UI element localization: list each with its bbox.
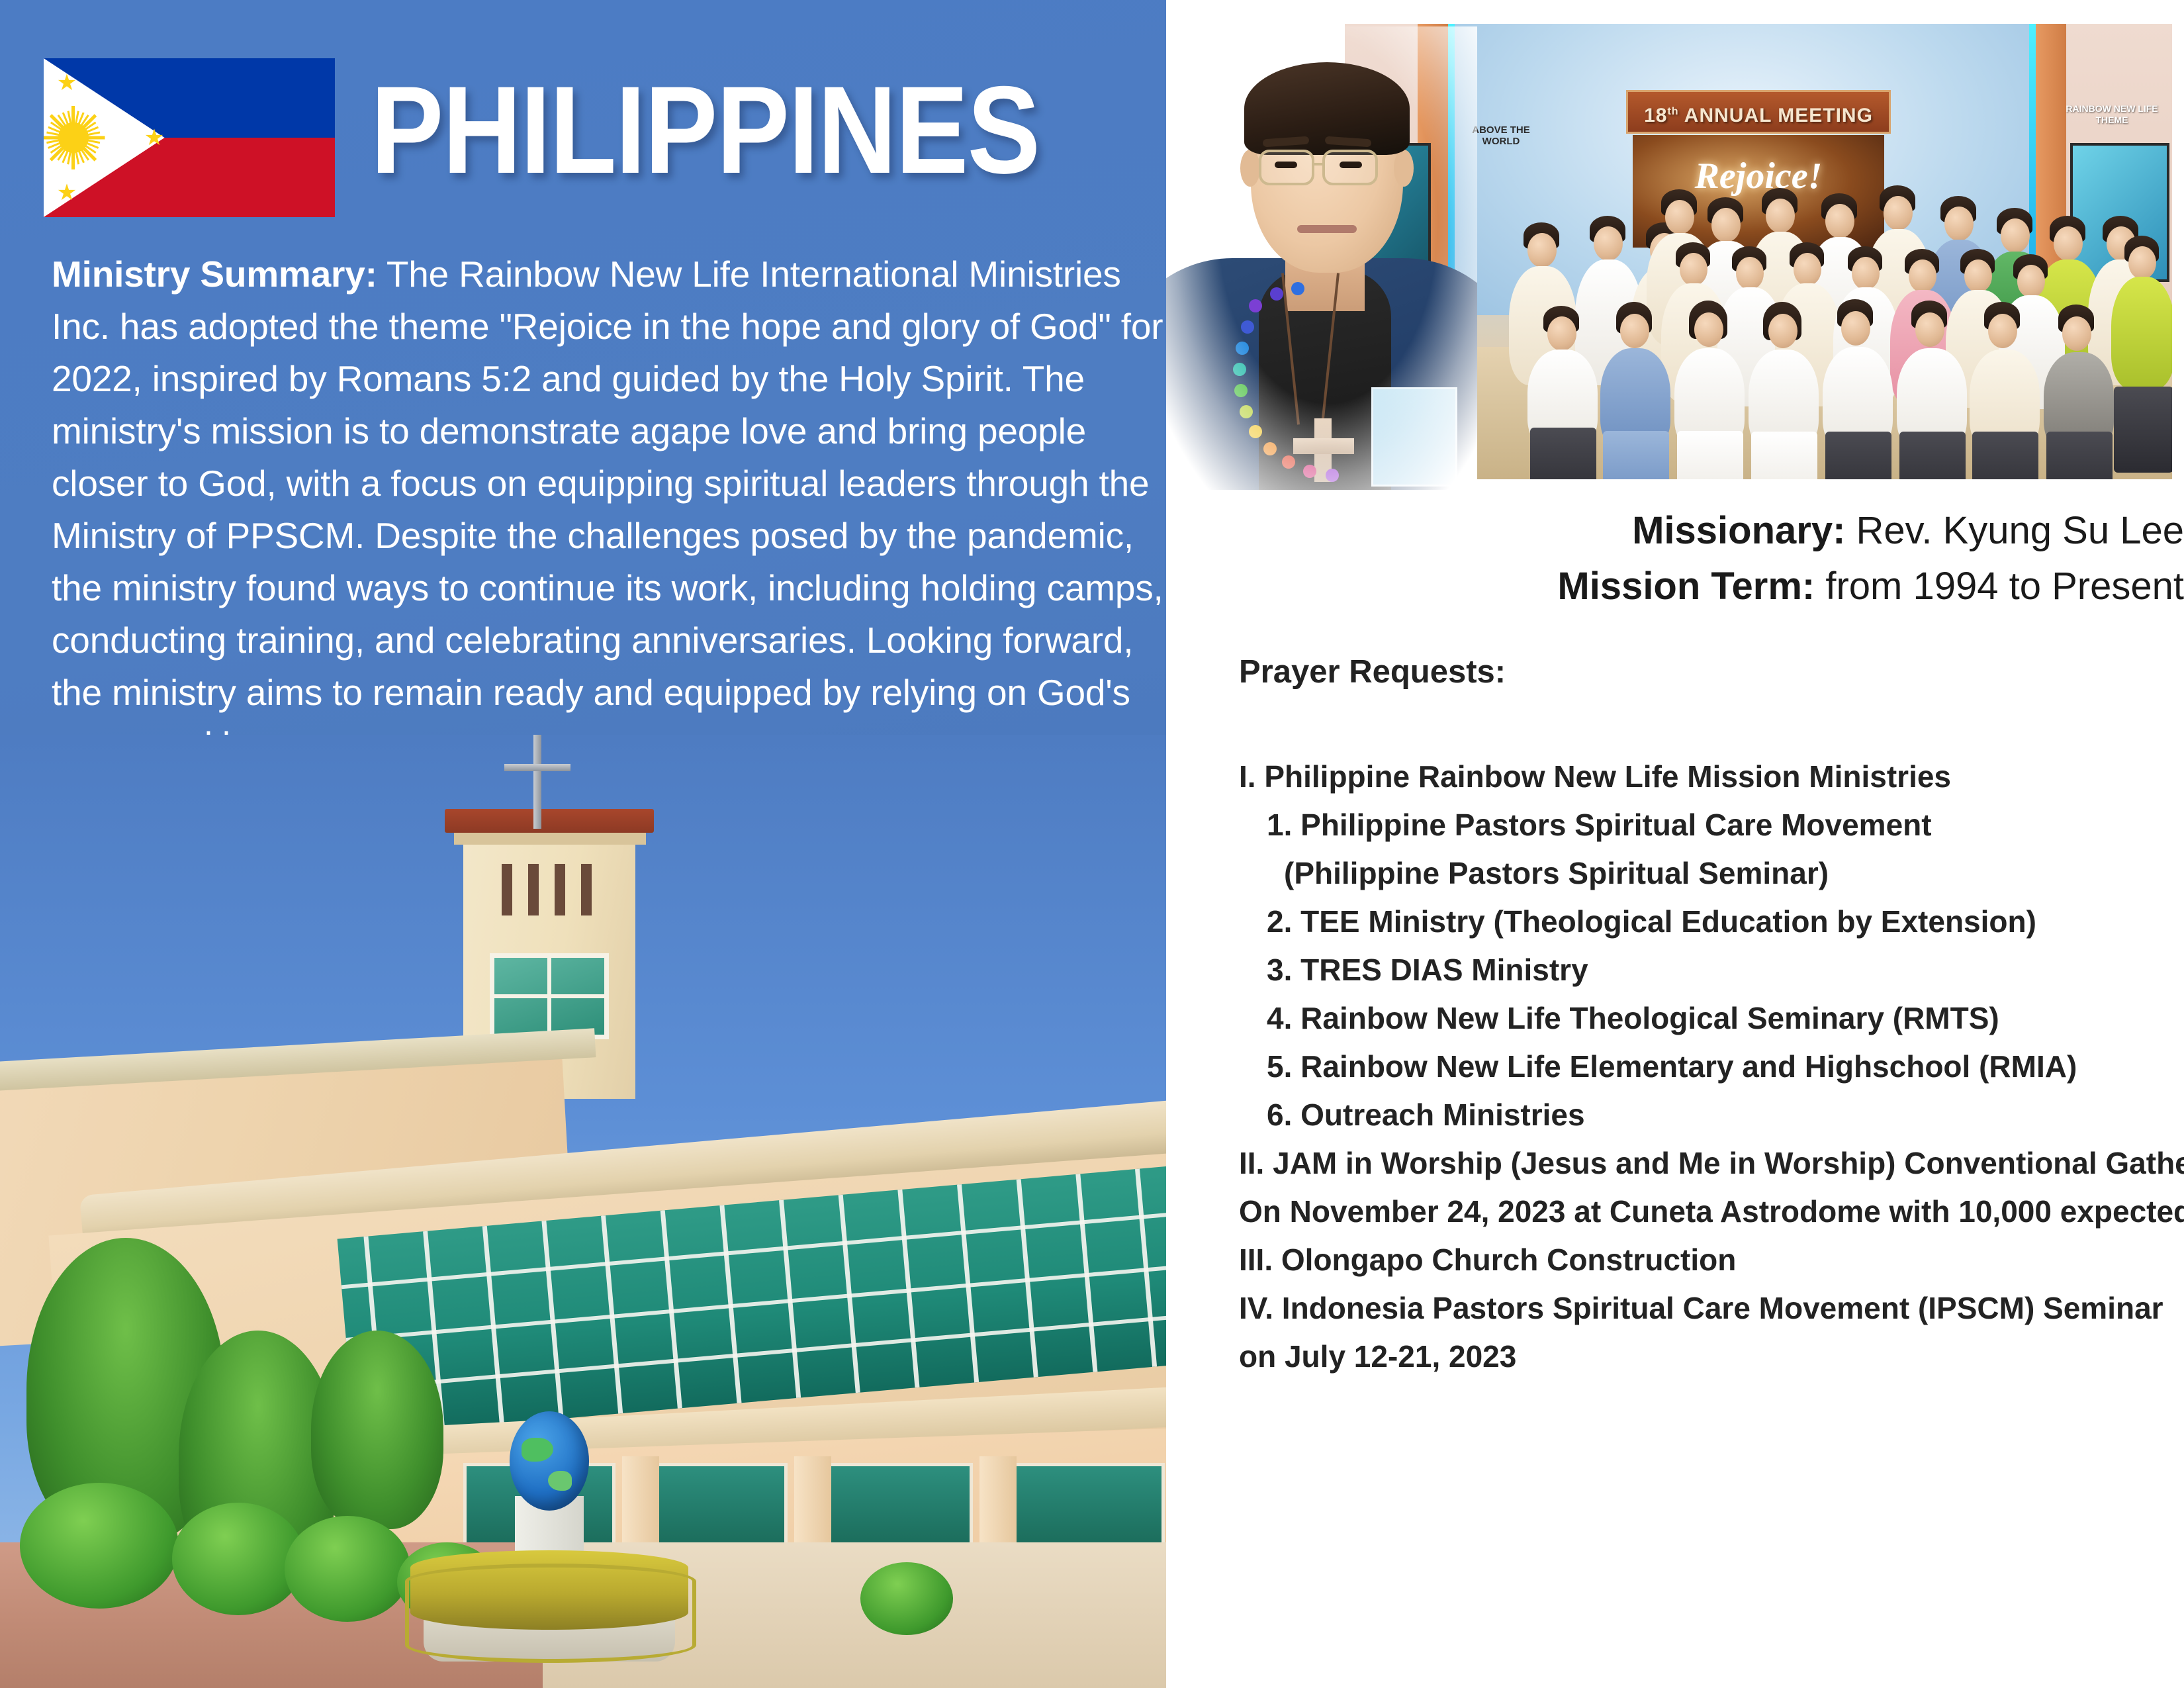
- prayer-request-item: (Philippine Pastors Spiritual Seminar): [1239, 849, 2179, 898]
- cross-icon: [533, 735, 541, 829]
- shrub: [20, 1483, 179, 1609]
- prayer-request-item: 2. TEE Ministry (Theological Education b…: [1239, 898, 2179, 946]
- ministry-summary-text: The Rainbow New Life International Minis…: [52, 254, 1163, 765]
- prayer-requests-title: Prayer Requests:: [1239, 652, 2179, 692]
- prayer-request-item: 6. Outreach Ministries: [1239, 1091, 2179, 1139]
- right-white-panel: ABOVE THE WORLD RAINBOW NEW LIFE THEME R…: [1166, 0, 2184, 1688]
- tower-roof: [445, 809, 654, 833]
- flag-star-icon: [57, 183, 77, 203]
- philippines-flag-icon: [44, 58, 335, 217]
- page-title: PHILIPPINES: [371, 64, 1039, 196]
- church-building-photo: [0, 735, 1166, 1688]
- mission-term-row: Mission Term: from 1994 to Present: [1198, 559, 2184, 614]
- missionary-name-row: Missionary: Rev. Kyung Su Lee: [1198, 503, 2184, 559]
- tower-slat: [528, 864, 539, 915]
- mission-term-value: from 1994 to Present: [1815, 565, 2184, 608]
- tower-window: [490, 953, 609, 1039]
- banner-ordinal: th: [1667, 106, 1678, 117]
- globe-sculpture: [510, 1411, 589, 1511]
- prayer-request-item: III. Olongapo Church Construction: [1239, 1236, 2179, 1284]
- cross-icon: [504, 764, 570, 771]
- prayer-request-item: 5. Rainbow New Life Elementary and Highs…: [1239, 1043, 2179, 1091]
- prayer-request-item: 1. Philippine Pastors Spiritual Care Mov…: [1239, 801, 2179, 849]
- left-blue-panel: PHILIPPINES Ministry Summary: The Rainbo…: [0, 0, 1166, 1688]
- missionary-name-label: Missionary:: [1632, 509, 1845, 552]
- prayer-requests-list: I. Philippine Rainbow New Life Mission M…: [1239, 753, 2179, 1381]
- flag-star-icon: [57, 73, 77, 93]
- tower-slat: [581, 864, 592, 915]
- flag-star-icon: [144, 128, 164, 148]
- prayer-request-item: on July 12-21, 2023: [1239, 1333, 2179, 1381]
- missionary-name-value: Rev. Kyung Su Lee: [1845, 509, 2184, 552]
- prayer-request-item: I. Philippine Rainbow New Life Mission M…: [1239, 753, 2179, 801]
- potted-plant: [860, 1562, 953, 1635]
- missionary-portrait: [1166, 26, 1477, 490]
- ministry-summary-label: Ministry Summary:: [52, 254, 377, 295]
- shrub: [172, 1503, 304, 1615]
- palm-tree: [311, 1331, 443, 1529]
- decorative-railing: [405, 1564, 696, 1663]
- prayer-request-item: IV. Indonesia Pastors Spiritual Care Mov…: [1239, 1284, 2179, 1333]
- slide-root: PHILIPPINES Ministry Summary: The Rainbo…: [0, 0, 2184, 1688]
- prayer-requests-block: Prayer Requests: I. Philippine Rainbow N…: [1239, 652, 2179, 1381]
- prayer-request-item: II. JAM in Worship (Jesus and Me in Wors…: [1239, 1139, 2179, 1188]
- tower-eave: [454, 833, 646, 845]
- shrub: [285, 1516, 410, 1622]
- ministry-summary: Ministry Summary: The Rainbow New Life I…: [52, 248, 1163, 771]
- prayer-request-item: 3. TRES DIAS Ministry: [1239, 946, 2179, 994]
- banner-text: ANNUAL MEETING: [1679, 105, 1873, 126]
- tower-slat: [502, 864, 512, 915]
- prayer-request-item: 4. Rainbow New Life Theological Seminary…: [1239, 994, 2179, 1043]
- prayer-request-item: On November 24, 2023 at Cuneta Astrodome…: [1239, 1188, 2179, 1236]
- annual-meeting-banner: 18th ANNUAL MEETING: [1626, 90, 1891, 134]
- portrait-feather-mask: [1166, 26, 1477, 490]
- banner-number: 18: [1644, 105, 1667, 126]
- tower-slat: [555, 864, 565, 915]
- side-screen-right-label: RAINBOW NEW LIFE THEME: [2056, 103, 2168, 126]
- mission-term-label: Mission Term:: [1557, 565, 1815, 608]
- flag-sun-icon: [58, 122, 89, 153]
- missionary-info: Missionary: Rev. Kyung Su Lee Mission Te…: [1198, 503, 2184, 614]
